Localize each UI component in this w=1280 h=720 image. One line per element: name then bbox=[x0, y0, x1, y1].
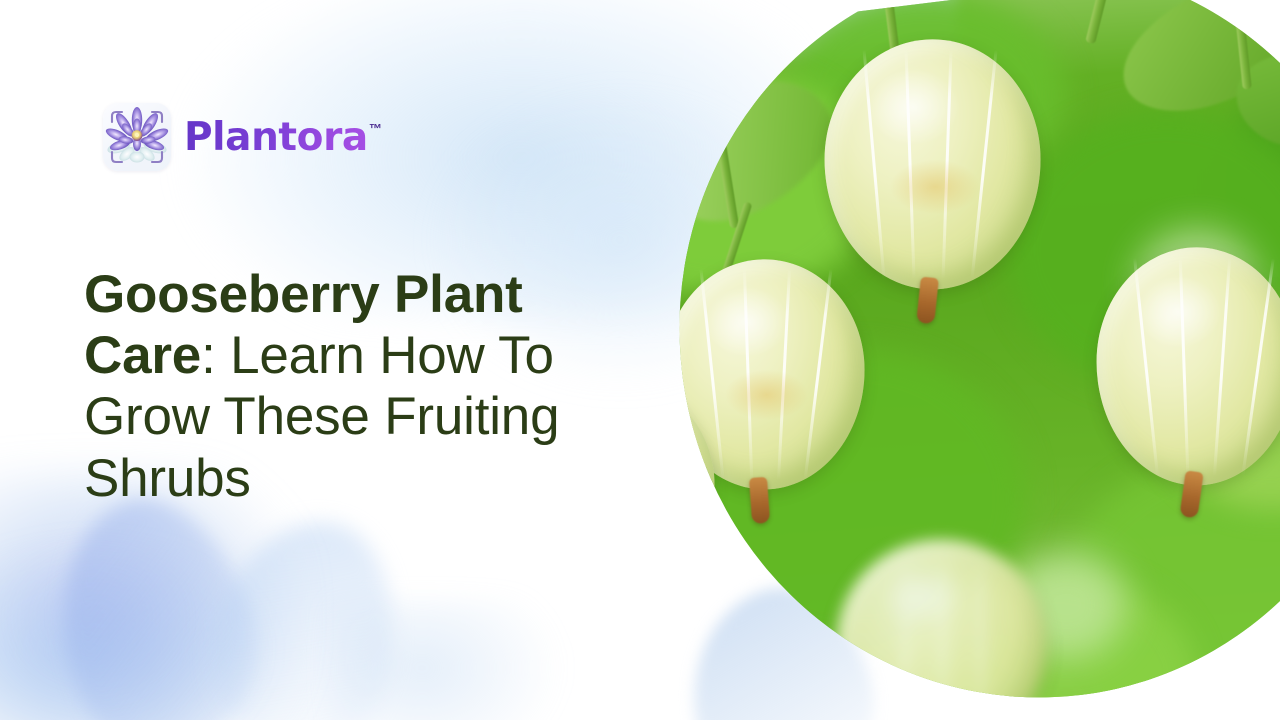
fruit-highlight bbox=[1137, 276, 1221, 347]
page-title: Gooseberry Plant Care: Learn How To Grow… bbox=[84, 264, 604, 510]
fruit-rib bbox=[942, 548, 945, 720]
trademark-symbol: ™ bbox=[369, 122, 382, 135]
brand-logo[interactable]: Plantora ™ bbox=[103, 103, 382, 171]
fruit-rib bbox=[804, 269, 833, 479]
fruit-calyx bbox=[599, 584, 625, 632]
fruit-rib bbox=[637, 390, 657, 588]
blue-wash-left-decoration bbox=[0, 540, 270, 720]
petal-shape-b-decoration bbox=[196, 506, 413, 720]
petal-shape-a-decoration bbox=[20, 474, 290, 720]
lotus-flower-scan-frame-icon bbox=[103, 103, 171, 171]
fruit-rib bbox=[904, 548, 907, 720]
fruit-stem bbox=[644, 260, 677, 369]
fruit-highlight bbox=[868, 69, 959, 144]
article-banner: Plantora ™ Gooseberry Plant Care: Learn … bbox=[0, 0, 1280, 720]
gooseberry-fruit bbox=[825, 39, 1041, 289]
fruit-stem bbox=[1085, 0, 1118, 44]
fruit-rib bbox=[608, 390, 614, 589]
fruit-calyx bbox=[749, 477, 770, 524]
fruit-highlight bbox=[879, 565, 967, 630]
fruit-rib bbox=[1213, 257, 1231, 476]
fruit-blush bbox=[889, 159, 980, 214]
fruit-blush bbox=[725, 370, 809, 421]
fruit-rib bbox=[979, 548, 982, 720]
gooseberry-fruit bbox=[665, 259, 865, 489]
gooseberry-photograph bbox=[558, 0, 1280, 720]
fruit-calyx bbox=[916, 277, 939, 325]
gooseberry-fruit bbox=[1097, 247, 1280, 485]
brand-name-text: Plantora bbox=[184, 118, 368, 157]
fruit-rib bbox=[970, 50, 997, 279]
petal-shape-d-decoration bbox=[330, 600, 560, 720]
hero-photo bbox=[558, 0, 1280, 720]
brand-wordmark: Plantora ™ bbox=[184, 118, 382, 157]
fruit-rib bbox=[1241, 258, 1274, 475]
